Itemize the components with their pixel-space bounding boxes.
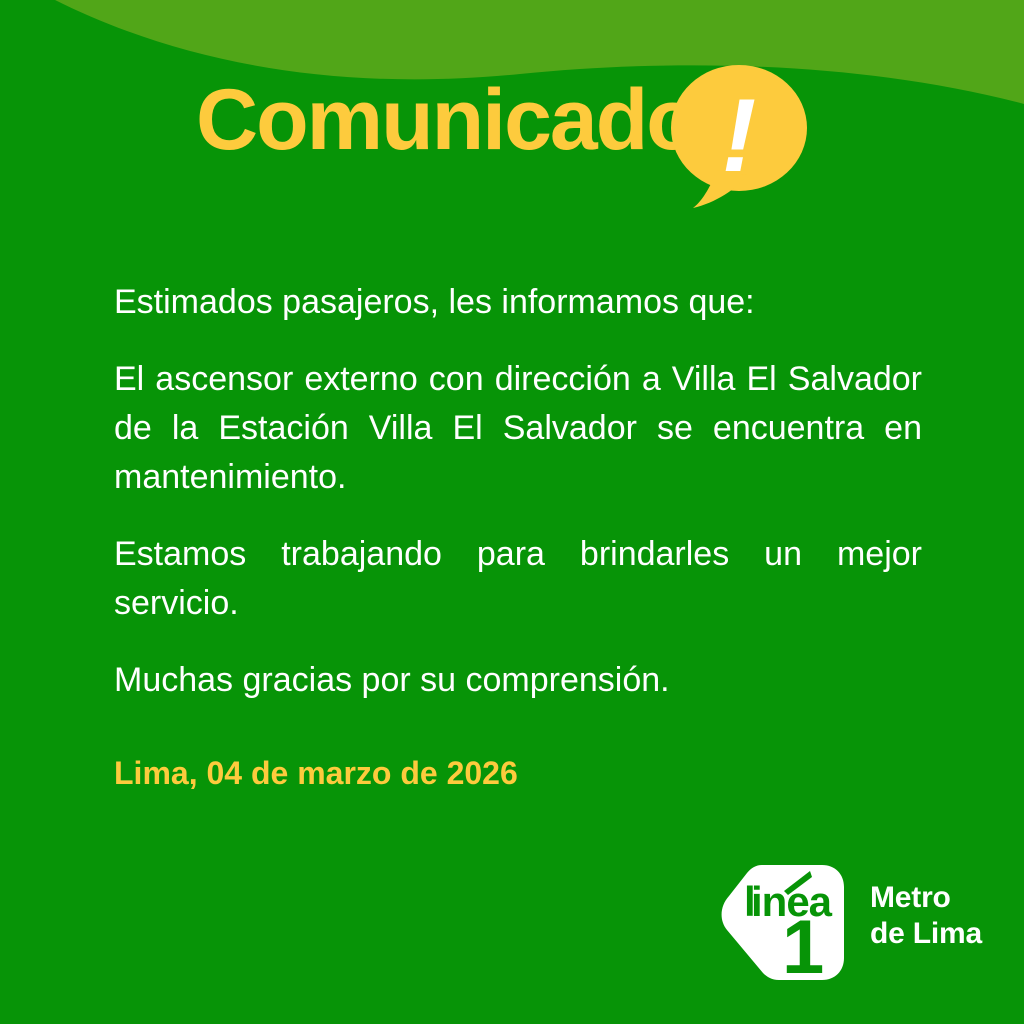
poster-header: Comunicado ! (0, 72, 1024, 232)
announcement-body: Estimados pasajeros, les informamos que:… (114, 278, 922, 705)
page-title: Comunicado (196, 72, 697, 168)
paragraph-greeting: Estimados pasajeros, les informamos que: (114, 278, 922, 327)
paragraph-working: Estamos trabajando para brindarles un me… (114, 530, 922, 628)
publication-date: Lima, 04 de marzo de 2026 (114, 755, 518, 792)
svg-text:1: 1 (782, 905, 824, 986)
paragraph-thanks: Muchas gracias por su comprensión. (114, 656, 922, 705)
linea-1-metro-de-lima-logo: l inea 1 Metro de Lima (718, 858, 988, 988)
metro-de-lima-wordmark: Metro de Lima (870, 880, 982, 952)
wordmark-line-1: Metro (870, 880, 982, 916)
linea-1-logo-mark-icon: l inea 1 (718, 858, 848, 986)
paragraph-notice: El ascensor externo con dirección a Vill… (114, 355, 922, 502)
exclamation-mark-glyph: ! (663, 65, 815, 213)
comunicado-poster: Comunicado ! Estimados pasajeros, les in… (0, 0, 1024, 1024)
wordmark-line-2: de Lima (870, 916, 982, 952)
